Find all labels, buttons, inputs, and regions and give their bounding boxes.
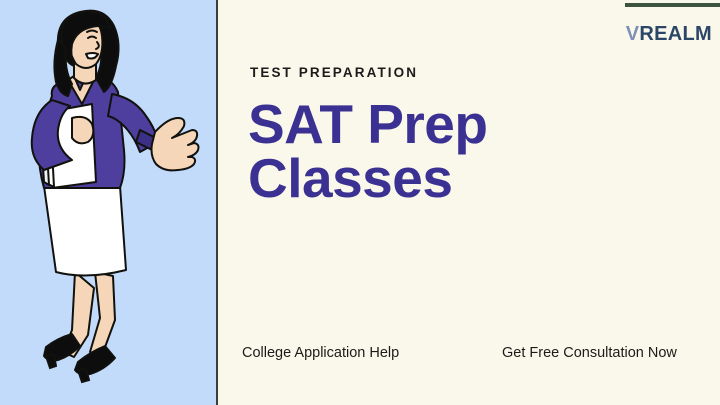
- slide-canvas: VREALM TEST PREPARATION SAT Prep Classes…: [0, 0, 720, 405]
- woman-holding-documents-illustration: [0, 0, 216, 405]
- college-application-help-link[interactable]: College Application Help: [242, 344, 442, 362]
- headline-line-2: Classes: [248, 152, 678, 206]
- get-free-consultation-link[interactable]: Get Free Consultation Now: [502, 344, 720, 362]
- brand-logo-name: REALM: [639, 23, 712, 45]
- illustration-panel: [0, 0, 216, 405]
- brand-logo-initial: V: [626, 23, 640, 45]
- page-title: SAT Prep Classes: [248, 98, 678, 206]
- accent-rule: [625, 3, 720, 7]
- eyebrow-label: TEST PREPARATION: [250, 66, 418, 80]
- brand-logo[interactable]: VREALM: [626, 24, 712, 44]
- panel-divider: [216, 0, 218, 405]
- headline-line-1: SAT Prep: [248, 98, 678, 152]
